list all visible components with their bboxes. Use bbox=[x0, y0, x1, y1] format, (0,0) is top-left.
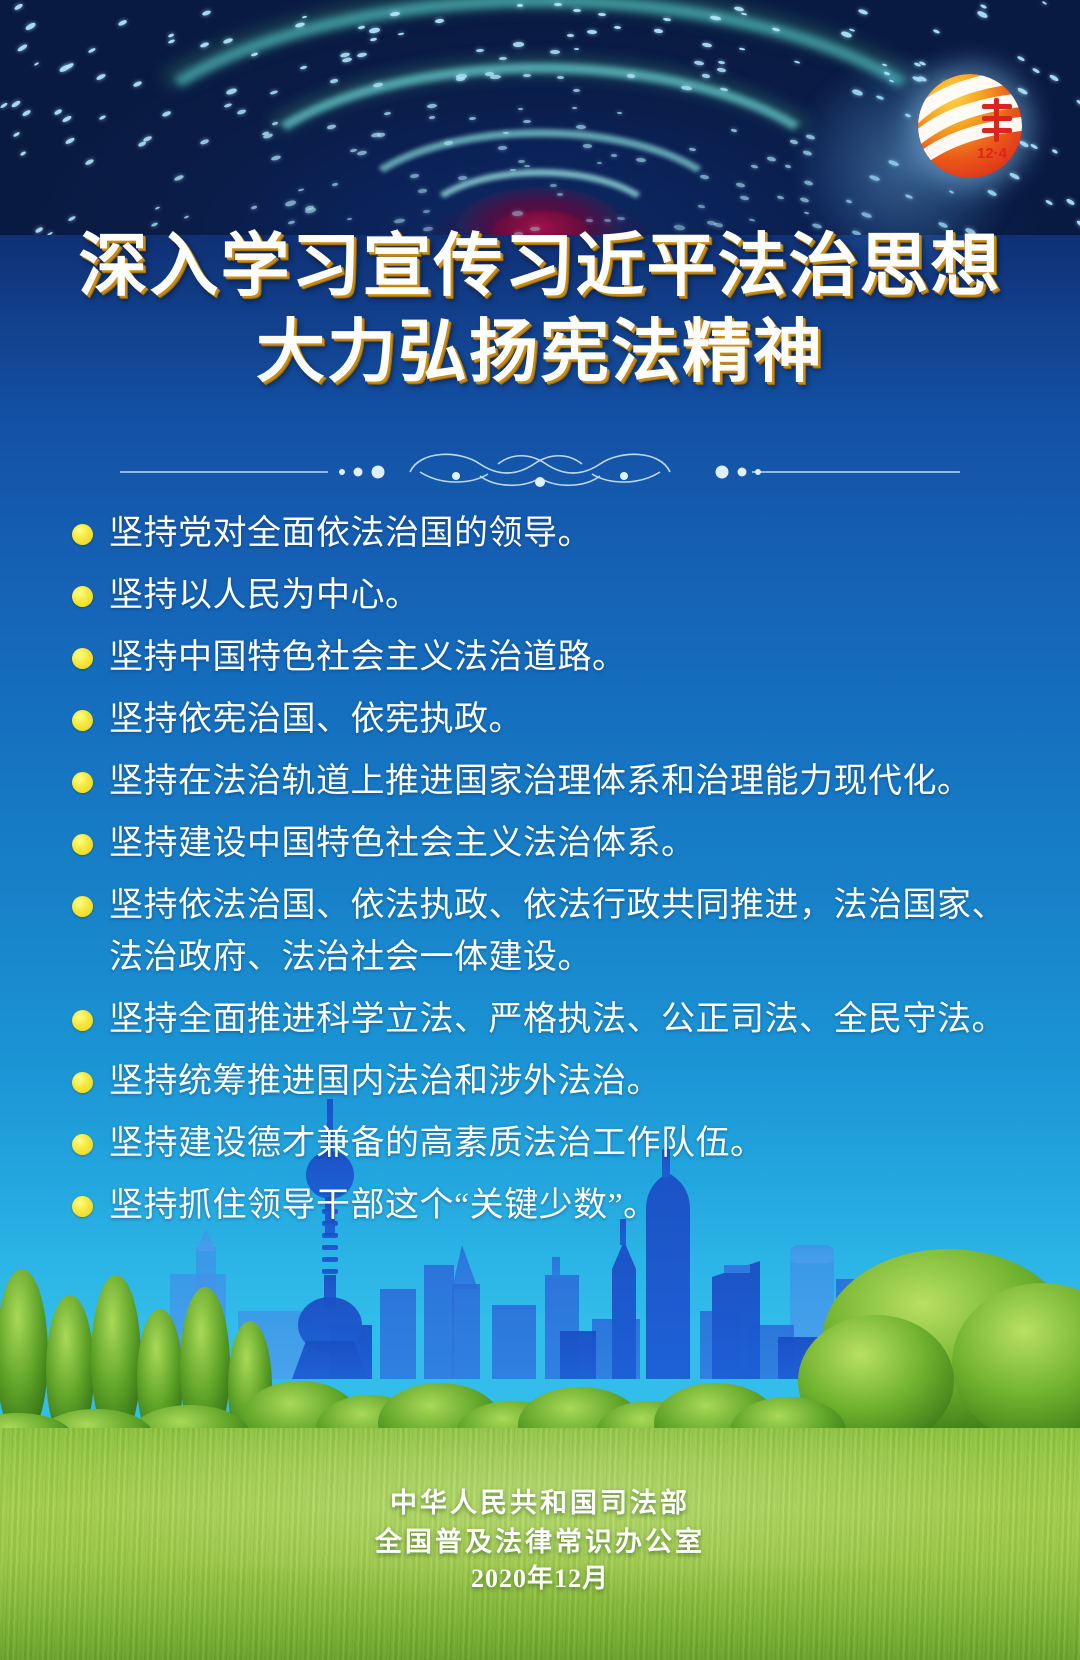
principle-item: 坚持中国特色社会主义法治道路。 bbox=[72, 632, 1012, 684]
principle-text: 坚持建设德才兼备的高素质法治工作队伍。 bbox=[109, 1118, 765, 1170]
principle-text: 坚持建设中国特色社会主义法治体系。 bbox=[109, 818, 696, 870]
bullet-dot-icon bbox=[72, 1134, 93, 1155]
principle-item: 坚持抓住领导干部这个“关键少数”。 bbox=[72, 1180, 1012, 1232]
bullet-dot-icon bbox=[72, 896, 93, 917]
footer-date: 2020年12月 bbox=[0, 1561, 1080, 1598]
principle-item: 坚持在法治轨道上推进国家治理体系和治理能力现代化。 bbox=[72, 756, 1012, 808]
bullet-dot-icon bbox=[72, 772, 93, 793]
bullet-dot-icon bbox=[72, 834, 93, 855]
principle-item: 坚持依宪治国、依宪执政。 bbox=[72, 694, 1012, 746]
principle-item: 坚持党对全面依法治国的领导。 bbox=[72, 508, 1012, 560]
footer-org-2: 全国普及法律常识办公室 bbox=[0, 1523, 1080, 1561]
bullet-dot-icon bbox=[72, 524, 93, 545]
principle-text: 坚持在法治轨道上推进国家治理体系和治理能力现代化。 bbox=[109, 756, 972, 808]
national-constitution-day-logo: 12·4 bbox=[918, 74, 1022, 178]
poster-canvas: 12·4 深入学习宣传习近平法治思想 大力弘扬宪法精神 bbox=[0, 0, 1080, 1660]
principles-list: 坚持党对全面依法治国的领导。坚持以人民为中心。坚持中国特色社会主义法治道路。坚持… bbox=[72, 508, 1012, 1242]
principle-item: 坚持统筹推进国内法治和涉外法治。 bbox=[72, 1056, 1012, 1108]
principle-text: 坚持依宪治国、依宪执政。 bbox=[109, 694, 523, 746]
principle-text: 坚持全面推进科学立法、严格执法、公正司法、全民守法。 bbox=[109, 994, 1006, 1046]
tree-line bbox=[0, 1245, 1080, 1455]
bullet-dot-icon bbox=[72, 1010, 93, 1031]
poster-footer: 中华人民共和国司法部 全国普及法律常识办公室 2020年12月 bbox=[0, 1484, 1080, 1598]
principle-item: 坚持全面推进科学立法、严格执法、公正司法、全民守法。 bbox=[72, 994, 1012, 1046]
bullet-dot-icon bbox=[72, 586, 93, 607]
title-line-2: 大力弘扬宪法精神 bbox=[0, 312, 1080, 392]
poster-title: 深入学习宣传习近平法治思想 大力弘扬宪法精神 bbox=[0, 226, 1080, 392]
ornamental-divider bbox=[120, 432, 960, 488]
principle-text: 坚持抓住领导干部这个“关键少数”。 bbox=[109, 1180, 658, 1232]
bullet-dot-icon bbox=[72, 648, 93, 669]
bullet-dot-icon bbox=[72, 1196, 93, 1217]
principle-text: 坚持中国特色社会主义法治道路。 bbox=[109, 632, 627, 684]
principle-text: 坚持依法治国、依法执政、依法行政共同推进，法治国家、 法治政府、法治社会一体建设… bbox=[109, 880, 1006, 984]
principle-text: 坚持统筹推进国内法治和涉外法治。 bbox=[109, 1056, 661, 1108]
logo-date-text: 12·4 bbox=[977, 145, 1008, 162]
principle-text: 坚持党对全面依法治国的领导。 bbox=[109, 508, 592, 560]
bullet-dot-icon bbox=[72, 710, 93, 731]
principle-item: 坚持建设德才兼备的高素质法治工作队伍。 bbox=[72, 1118, 1012, 1170]
principle-item: 坚持建设中国特色社会主义法治体系。 bbox=[72, 818, 1012, 870]
bullet-dot-icon bbox=[72, 1072, 93, 1093]
footer-org-1: 中华人民共和国司法部 bbox=[0, 1484, 1080, 1522]
principle-item: 坚持以人民为中心。 bbox=[72, 570, 1012, 622]
title-line-1: 深入学习宣传习近平法治思想 bbox=[0, 226, 1080, 306]
principle-item: 坚持依法治国、依法执政、依法行政共同推进，法治国家、 法治政府、法治社会一体建设… bbox=[72, 880, 1012, 984]
principle-text: 坚持以人民为中心。 bbox=[109, 570, 420, 622]
